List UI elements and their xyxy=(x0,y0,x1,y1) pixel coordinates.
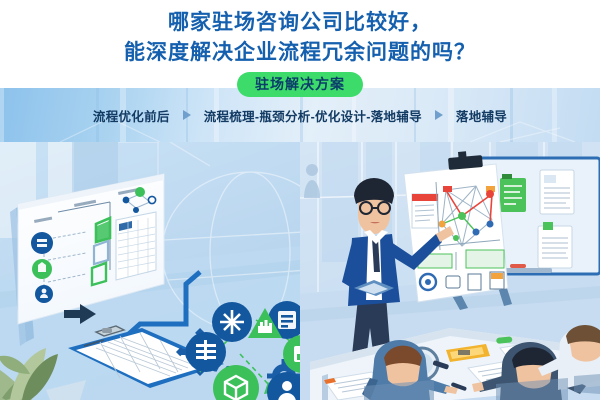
arrow-right-icon xyxy=(183,110,191,120)
page-title-line-2: 能深度解决企业流程冗余问题的吗？ xyxy=(124,38,476,68)
solution-badge: 驻场解决方案 xyxy=(237,72,363,97)
page-title-line-1: 哪家驻场咨询公司比较好， xyxy=(168,8,432,38)
step-item-3[interactable]: 落地辅导 xyxy=(456,106,507,125)
left-illustration-panel xyxy=(0,142,300,400)
right-illustration-panel xyxy=(300,142,600,400)
illustration-area xyxy=(0,142,600,400)
left-scene-svg xyxy=(0,142,300,400)
arrow-right-icon xyxy=(435,110,443,120)
step-item-2[interactable]: 流程梳理-瓶颈分析-优化设计-落地辅导 xyxy=(204,106,422,125)
step-item-1[interactable]: 流程优化前后 xyxy=(93,106,170,125)
banner-root: 哪家驻场咨询公司比较好， 能深度解决企业流程冗余问题的吗？ 驻场解决方案 流程优… xyxy=(0,0,600,400)
right-scene-svg xyxy=(300,142,600,400)
